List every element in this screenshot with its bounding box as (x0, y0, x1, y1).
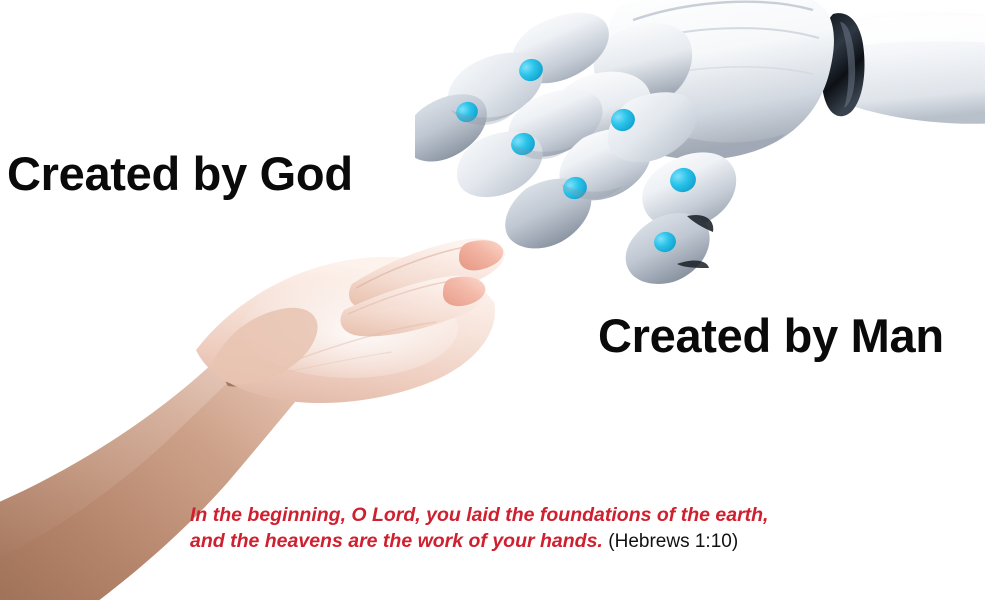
scripture-quote: In the beginning, O Lord, you laid the f… (190, 502, 890, 555)
scripture-line-2-wrapper: and the heavens are the work of your han… (190, 528, 890, 555)
robot-hand-image (415, 0, 985, 302)
scripture-line-2: and the heavens are the work of your han… (190, 530, 603, 552)
heading-created-by-god: Created by God (7, 150, 353, 197)
scripture-line-1: In the beginning, O Lord, you laid the f… (190, 502, 890, 528)
scripture-citation: (Hebrews 1:10) (608, 531, 738, 552)
robot-forearm-highlight (855, 15, 985, 46)
heading-created-by-man: Created by Man (598, 312, 944, 359)
poster-canvas: Created by God Created by Man In the beg… (0, 0, 985, 600)
